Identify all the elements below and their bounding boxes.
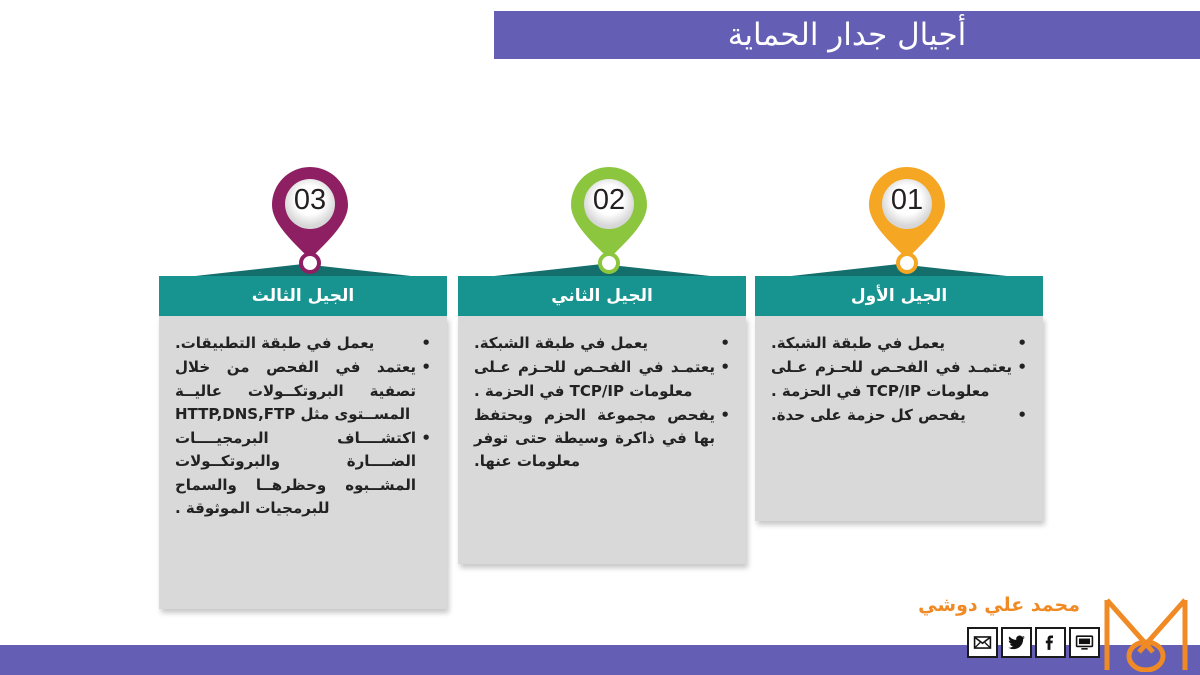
- map-pin-number-1: 01: [863, 184, 951, 217]
- email-icon[interactable]: [967, 627, 998, 658]
- card-2-header-band: الجيل الثاني: [458, 276, 746, 316]
- facebook-icon[interactable]: [1035, 627, 1066, 658]
- card-3-body: يعمل في طبقة التطبيقات. يعتمد في الفحص م…: [159, 316, 447, 609]
- author-name: محمد علي دوشي: [918, 594, 1080, 616]
- list-item: يفحص كل حزمة على حدة.: [771, 404, 1027, 427]
- map-pin-number-3: 03: [266, 184, 354, 217]
- card-2-bullet-list: يعمل في طبقة الشبكة. يعتمـد في الفحـص لل…: [474, 332, 730, 474]
- card-1-bullet-list: يعمل في طبقة الشبكة. يعتمـد في الفحـص لل…: [771, 332, 1027, 427]
- list-item: يعمل في طبقة الشبكة.: [771, 332, 1027, 355]
- card-3-header-band: الجيل الثالث: [159, 276, 447, 316]
- monitor-icon[interactable]: [1069, 627, 1100, 658]
- cards-container: الجيل الأول يعمل في طبقة الشبكة. يعتمـد …: [0, 0, 1200, 675]
- list-item: يعمل في طبقة الشبكة.: [474, 332, 730, 355]
- social-links: [967, 627, 1100, 658]
- list-item: يعمل في طبقة التطبيقات.: [175, 332, 431, 355]
- slide-root: أجيال جدار الحماية الجيل الأول يعمل في ط…: [0, 0, 1200, 675]
- twitter-icon[interactable]: [1001, 627, 1032, 658]
- list-item: يعتمـد في الفحـص للحـزم عـلى معلومات TCP…: [474, 356, 730, 403]
- generation-card-2: الجيل الثاني يعمل في طبقة الشبكة. يعتمـد…: [458, 264, 746, 564]
- list-item: يفحص مجموعة الحزم ويحتفظ بها في ذاكرة وس…: [474, 404, 730, 474]
- card-3-header-title: الجيل الثالث: [252, 286, 354, 306]
- list-item: يعتمـد في الفحـص للحـزم عـلى معلومات TCP…: [771, 356, 1027, 403]
- card-2-body: يعمل في طبقة الشبكة. يعتمـد في الفحـص لل…: [458, 316, 746, 564]
- list-item: اكتشــــاف البرمجيــــات الضــــارة والب…: [175, 427, 431, 520]
- map-pin-marker-1: 01: [863, 165, 951, 273]
- brand-logo-m-icon: [1100, 592, 1192, 672]
- map-pin-marker-3: 03: [266, 165, 354, 273]
- list-item: يعتمد في الفحص من خلال تصفية البروتكــول…: [175, 356, 431, 426]
- card-3-bullet-list: يعمل في طبقة التطبيقات. يعتمد في الفحص م…: [175, 332, 431, 520]
- map-pin-number-2: 02: [565, 184, 653, 217]
- card-1-body: يعمل في طبقة الشبكة. يعتمـد في الفحـص لل…: [755, 316, 1043, 521]
- generation-card-1: الجيل الأول يعمل في طبقة الشبكة. يعتمـد …: [755, 264, 1043, 521]
- map-pin-marker-2: 02: [565, 165, 653, 273]
- card-1-header-title: الجيل الأول: [851, 286, 947, 306]
- generation-card-3: الجيل الثالث يعمل في طبقة التطبيقات. يعت…: [159, 264, 447, 609]
- card-2-header-title: الجيل الثاني: [551, 286, 653, 306]
- card-1-header-band: الجيل الأول: [755, 276, 1043, 316]
